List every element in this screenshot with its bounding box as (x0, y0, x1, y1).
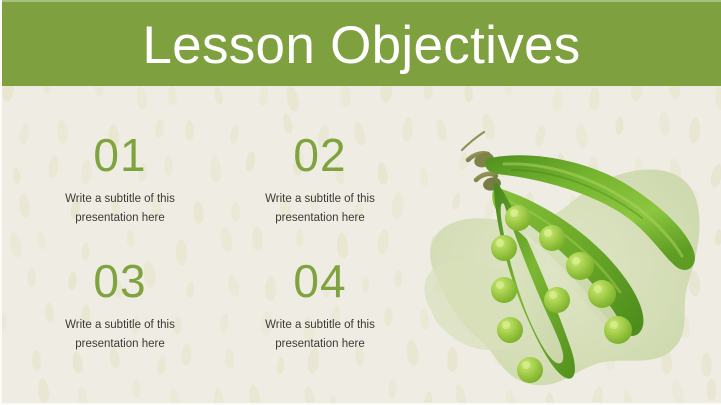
pea-pods-illustration (400, 108, 712, 386)
background-seed-shape (0, 385, 3, 405)
slide-title-banner: Lesson Objectives (2, 0, 721, 86)
background-seed-shape (545, 393, 553, 405)
background-seed-shape (247, 384, 262, 405)
background-seed-shape (387, 379, 397, 399)
background-seed-shape (133, 380, 141, 399)
background-seed-shape (622, 388, 633, 405)
background-seed-shape (37, 377, 50, 403)
background-seed-shape (214, 87, 225, 106)
objectives-grid: 01 Write a subtitle of this presentation… (20, 124, 420, 376)
objective-subtitle: Write a subtitle of this presentation he… (45, 190, 195, 228)
background-seed-shape (77, 386, 89, 405)
objective-number: 04 (220, 258, 420, 304)
objective-item-04[interactable]: 04 Write a subtitle of this presentation… (220, 250, 420, 376)
objective-number: 03 (20, 258, 220, 304)
objective-subtitle: Write a subtitle of this presentation he… (45, 316, 195, 354)
background-seed-shape (168, 388, 181, 405)
objective-subtitle: Write a subtitle of this presentation he… (245, 190, 395, 228)
background-seed-shape (589, 86, 600, 110)
background-seed-shape (714, 86, 721, 111)
background-seed-shape (454, 384, 468, 405)
objective-number: 01 (20, 132, 220, 178)
background-seed-shape (284, 84, 300, 112)
background-seed-shape (591, 386, 605, 405)
objective-number: 02 (220, 132, 420, 178)
background-seed-shape (340, 83, 351, 107)
background-seed-shape (136, 86, 148, 110)
background-seed-shape (258, 85, 269, 107)
background-seed-shape (423, 392, 432, 405)
background-seed-shape (329, 394, 338, 405)
presentation-slide: Lesson Objectives 01 Write a subtitle of… (0, 0, 721, 405)
background-seed-shape (0, 313, 7, 332)
background-seed-shape (213, 387, 224, 405)
page-title: Lesson Objectives (142, 19, 580, 72)
background-seed-shape (714, 229, 721, 246)
background-seed-shape (504, 389, 518, 405)
background-seed-shape (303, 385, 316, 405)
background-seed-shape (167, 85, 177, 106)
objective-item-02[interactable]: 02 Write a subtitle of this presentation… (220, 124, 420, 250)
objective-item-01[interactable]: 01 Write a subtitle of this presentation… (20, 124, 220, 250)
objective-item-03[interactable]: 03 Write a subtitle of this presentation… (20, 250, 220, 376)
objective-subtitle: Write a subtitle of this presentation he… (245, 316, 395, 354)
